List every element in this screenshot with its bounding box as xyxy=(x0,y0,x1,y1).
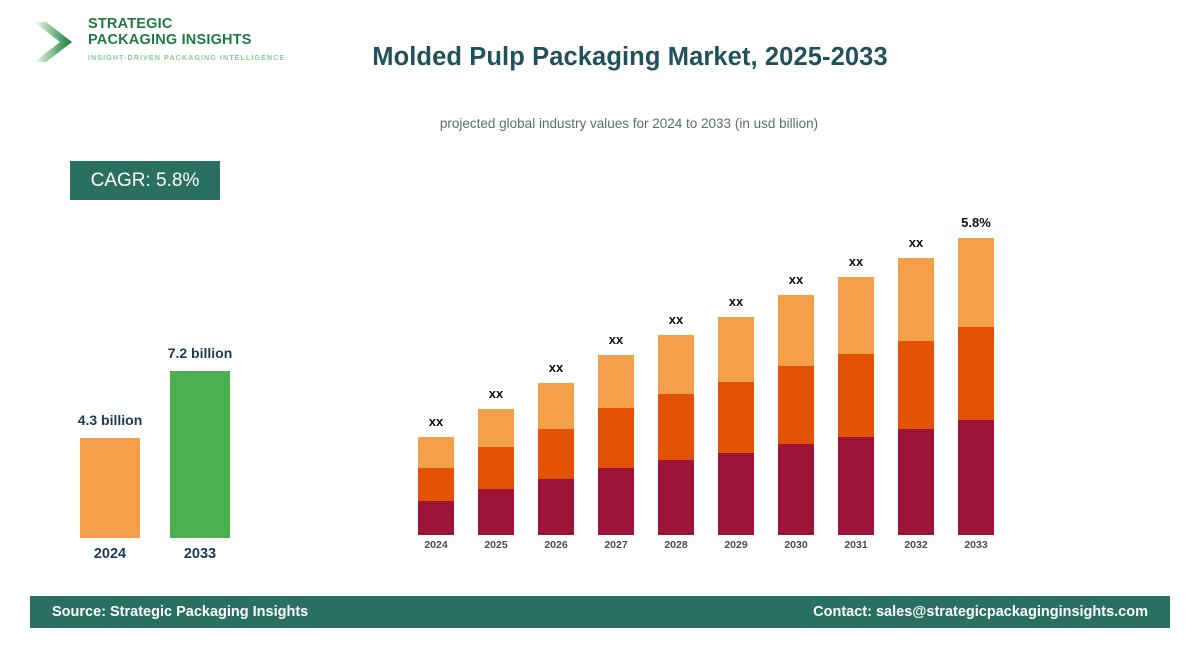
stacked-axis-label-2026: 2026 xyxy=(526,539,586,551)
stacked-axis-label-2028: 2028 xyxy=(646,539,706,551)
stacked-bar-value-2026: xx xyxy=(526,360,586,375)
stacked-segment-segment-1-2030 xyxy=(778,444,814,535)
stacked-segment-segment-1-2025 xyxy=(478,489,514,535)
stacked-segment-segment-3-2024 xyxy=(418,437,454,468)
stacked-bar-2029 xyxy=(718,317,754,535)
stacked-bar-value-2027: xx xyxy=(586,332,646,347)
stacked-bar-2026 xyxy=(538,383,574,535)
stacked-segment-segment-2-2026 xyxy=(538,429,574,479)
stacked-axis-label-2027: 2027 xyxy=(586,539,646,551)
footer-contact: Contact: sales@strategicpackaginginsight… xyxy=(813,604,1148,620)
stacked-bar-value-2031: xx xyxy=(826,254,886,269)
stacked-bar-2032 xyxy=(898,258,934,535)
stacked-segment-segment-2-2024 xyxy=(418,468,454,501)
stacked-segment-segment-1-2031 xyxy=(838,437,874,535)
stacked-bar-2030 xyxy=(778,295,814,535)
stacked-segment-segment-2-2027 xyxy=(598,408,634,468)
stacked-segment-segment-2-2031 xyxy=(838,354,874,437)
stacked-bar-2033 xyxy=(958,238,994,535)
stacked-bar-value-2033: 5.8% xyxy=(946,215,1006,230)
stacked-segment-segment-1-2027 xyxy=(598,468,634,535)
stacked-axis-label-2031: 2031 xyxy=(826,539,886,551)
stacked-segment-segment-1-2033 xyxy=(958,420,994,535)
stacked-segment-segment-3-2030 xyxy=(778,295,814,366)
stacked-bar-2025 xyxy=(478,409,514,535)
stacked-axis-label-2030: 2030 xyxy=(766,539,826,551)
stacked-segment-segment-1-2032 xyxy=(898,429,934,535)
stacked-axis-label-2032: 2032 xyxy=(886,539,946,551)
stacked-segment-segment-1-2029 xyxy=(718,453,754,535)
stacked-bar-chart: xx2024xx2025xx2026xx2027xx2028xx2029xx20… xyxy=(0,0,1200,650)
stacked-segment-segment-3-2031 xyxy=(838,277,874,354)
stacked-segment-segment-1-2026 xyxy=(538,479,574,535)
stacked-bar-2028 xyxy=(658,335,694,535)
stacked-segment-segment-3-2033 xyxy=(958,238,994,327)
stacked-axis-label-2033: 2033 xyxy=(946,539,1006,551)
stacked-bar-value-2029: xx xyxy=(706,294,766,309)
stacked-segment-segment-3-2026 xyxy=(538,383,574,429)
stacked-segment-segment-3-2028 xyxy=(658,335,694,394)
stacked-segment-segment-1-2024 xyxy=(418,501,454,535)
stacked-bar-value-2032: xx xyxy=(886,235,946,250)
stacked-axis-label-2024: 2024 xyxy=(406,539,466,551)
stacked-segment-segment-2-2029 xyxy=(718,382,754,453)
stacked-bar-2031 xyxy=(838,277,874,535)
stacked-bar-2024 xyxy=(418,437,454,535)
stacked-bar-value-2030: xx xyxy=(766,272,826,287)
stacked-segment-segment-2-2030 xyxy=(778,366,814,444)
stacked-segment-segment-3-2029 xyxy=(718,317,754,382)
stacked-bar-value-2025: xx xyxy=(466,386,526,401)
stacked-segment-segment-2-2025 xyxy=(478,447,514,489)
stacked-bar-value-2028: xx xyxy=(646,312,706,327)
stacked-segment-segment-3-2027 xyxy=(598,355,634,408)
footer-bar: Source: Strategic Packaging Insights Con… xyxy=(30,596,1170,628)
stacked-axis-label-2029: 2029 xyxy=(706,539,766,551)
stacked-segment-segment-2-2032 xyxy=(898,341,934,429)
stacked-axis-label-2025: 2025 xyxy=(466,539,526,551)
stacked-segment-segment-2-2033 xyxy=(958,327,994,420)
stacked-segment-segment-1-2028 xyxy=(658,460,694,535)
stacked-segment-segment-3-2025 xyxy=(478,409,514,447)
footer-source: Source: Strategic Packaging Insights xyxy=(52,604,308,620)
stacked-bar-value-2024: xx xyxy=(406,414,466,429)
stacked-segment-segment-2-2028 xyxy=(658,394,694,460)
stacked-segment-segment-3-2032 xyxy=(898,258,934,341)
stacked-bar-2027 xyxy=(598,355,634,535)
